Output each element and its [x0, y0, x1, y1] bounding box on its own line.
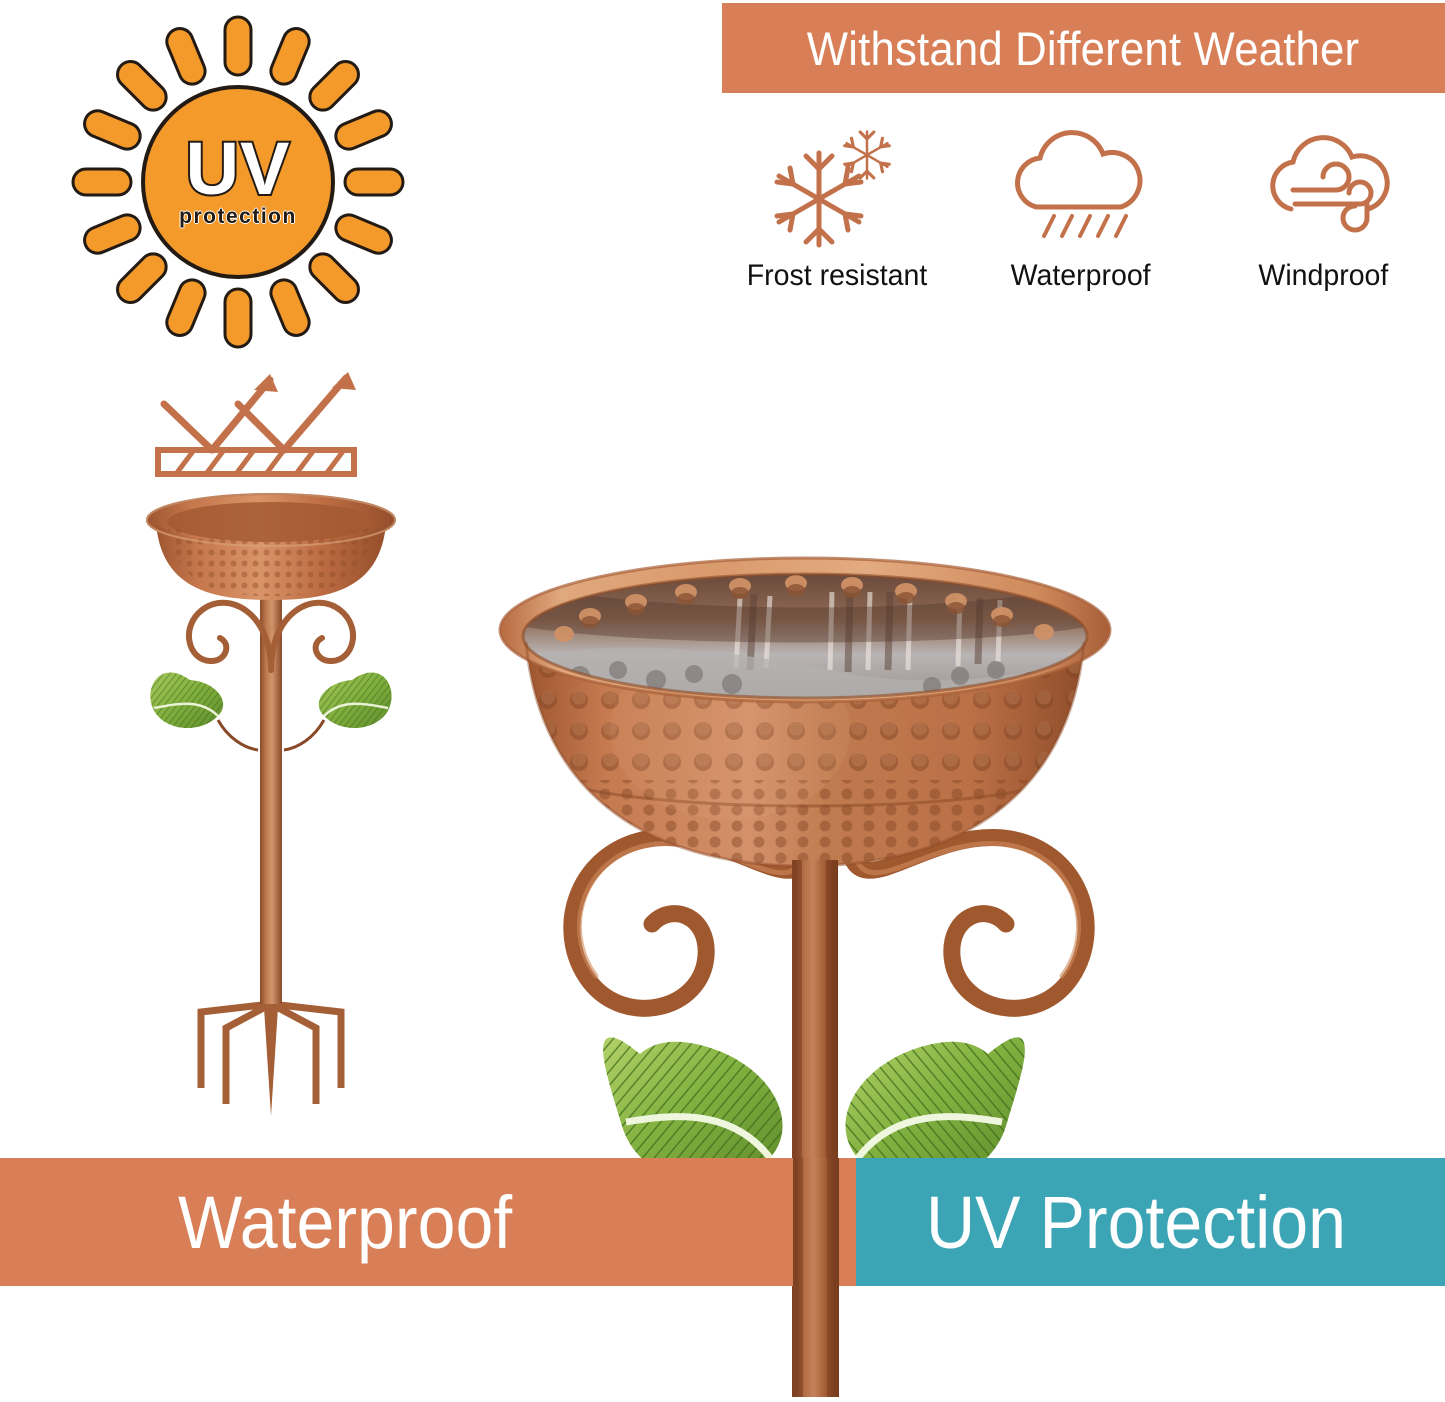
weather-feature-windproof: Windproof — [1202, 108, 1445, 293]
top-banner-title: Withstand Different Weather — [807, 21, 1359, 76]
pole-overlay — [793, 1158, 855, 1397]
uv-reflection-icon — [150, 358, 370, 478]
bottom-banner-waterproof: Waterproof — [0, 1158, 856, 1286]
infographic-canvas: UV protection — [0, 0, 1445, 1397]
weather-feature-label: Waterproof — [1011, 259, 1151, 293]
snowflake-icon — [763, 123, 913, 251]
weather-feature-label: Frost resistant — [747, 259, 928, 293]
uv-protection-badge: UV protection — [62, 12, 414, 352]
leaf-right — [284, 673, 392, 750]
top-banner: Withstand Different Weather — [722, 3, 1445, 93]
weather-feature-waterproof: Waterproof — [959, 108, 1202, 293]
birdbath-stake-full-view — [140, 492, 402, 1132]
sun-icon — [62, 12, 414, 352]
hammered-bowl — [147, 494, 395, 600]
bottom-banner-waterproof-label: Waterproof — [178, 1180, 512, 1265]
weather-feature-label: Windproof — [1259, 259, 1389, 293]
bottom-banner-uv-protection-label: UV Protection — [926, 1180, 1346, 1265]
rain-cloud-icon — [1006, 123, 1156, 251]
bottom-banner-uv-protection: UV Protection — [856, 1158, 1445, 1286]
hammered-bowl-with-water — [500, 558, 1110, 876]
weather-feature-frost: Frost resistant — [716, 108, 959, 293]
weather-features-row: Frost resistant — [716, 108, 1445, 293]
wind-icon — [1249, 123, 1399, 251]
leaf-left — [150, 673, 258, 750]
